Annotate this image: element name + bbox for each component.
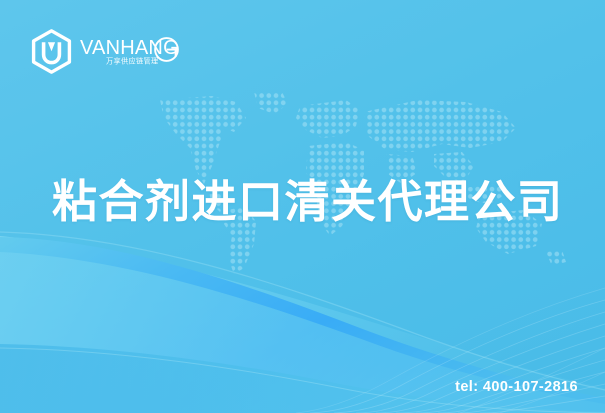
page-title: 粘合剂进口清关代理公司 — [52, 178, 564, 225]
brand-logo: VANHANG 万享供应链管理 — [30, 29, 180, 75]
contact-phone: tel: 400-107-2816 — [455, 379, 578, 395]
hexagon-u-mark-icon — [30, 29, 73, 75]
brand-wordmark: VANHANG 万享供应链管理 — [80, 35, 180, 69]
wordmark-subtext: 万享供应链管理 — [106, 57, 158, 66]
promo-banner: VANHANG 万享供应链管理 粘合剂进口清关代理公司 tel: 400-107… — [0, 0, 605, 413]
